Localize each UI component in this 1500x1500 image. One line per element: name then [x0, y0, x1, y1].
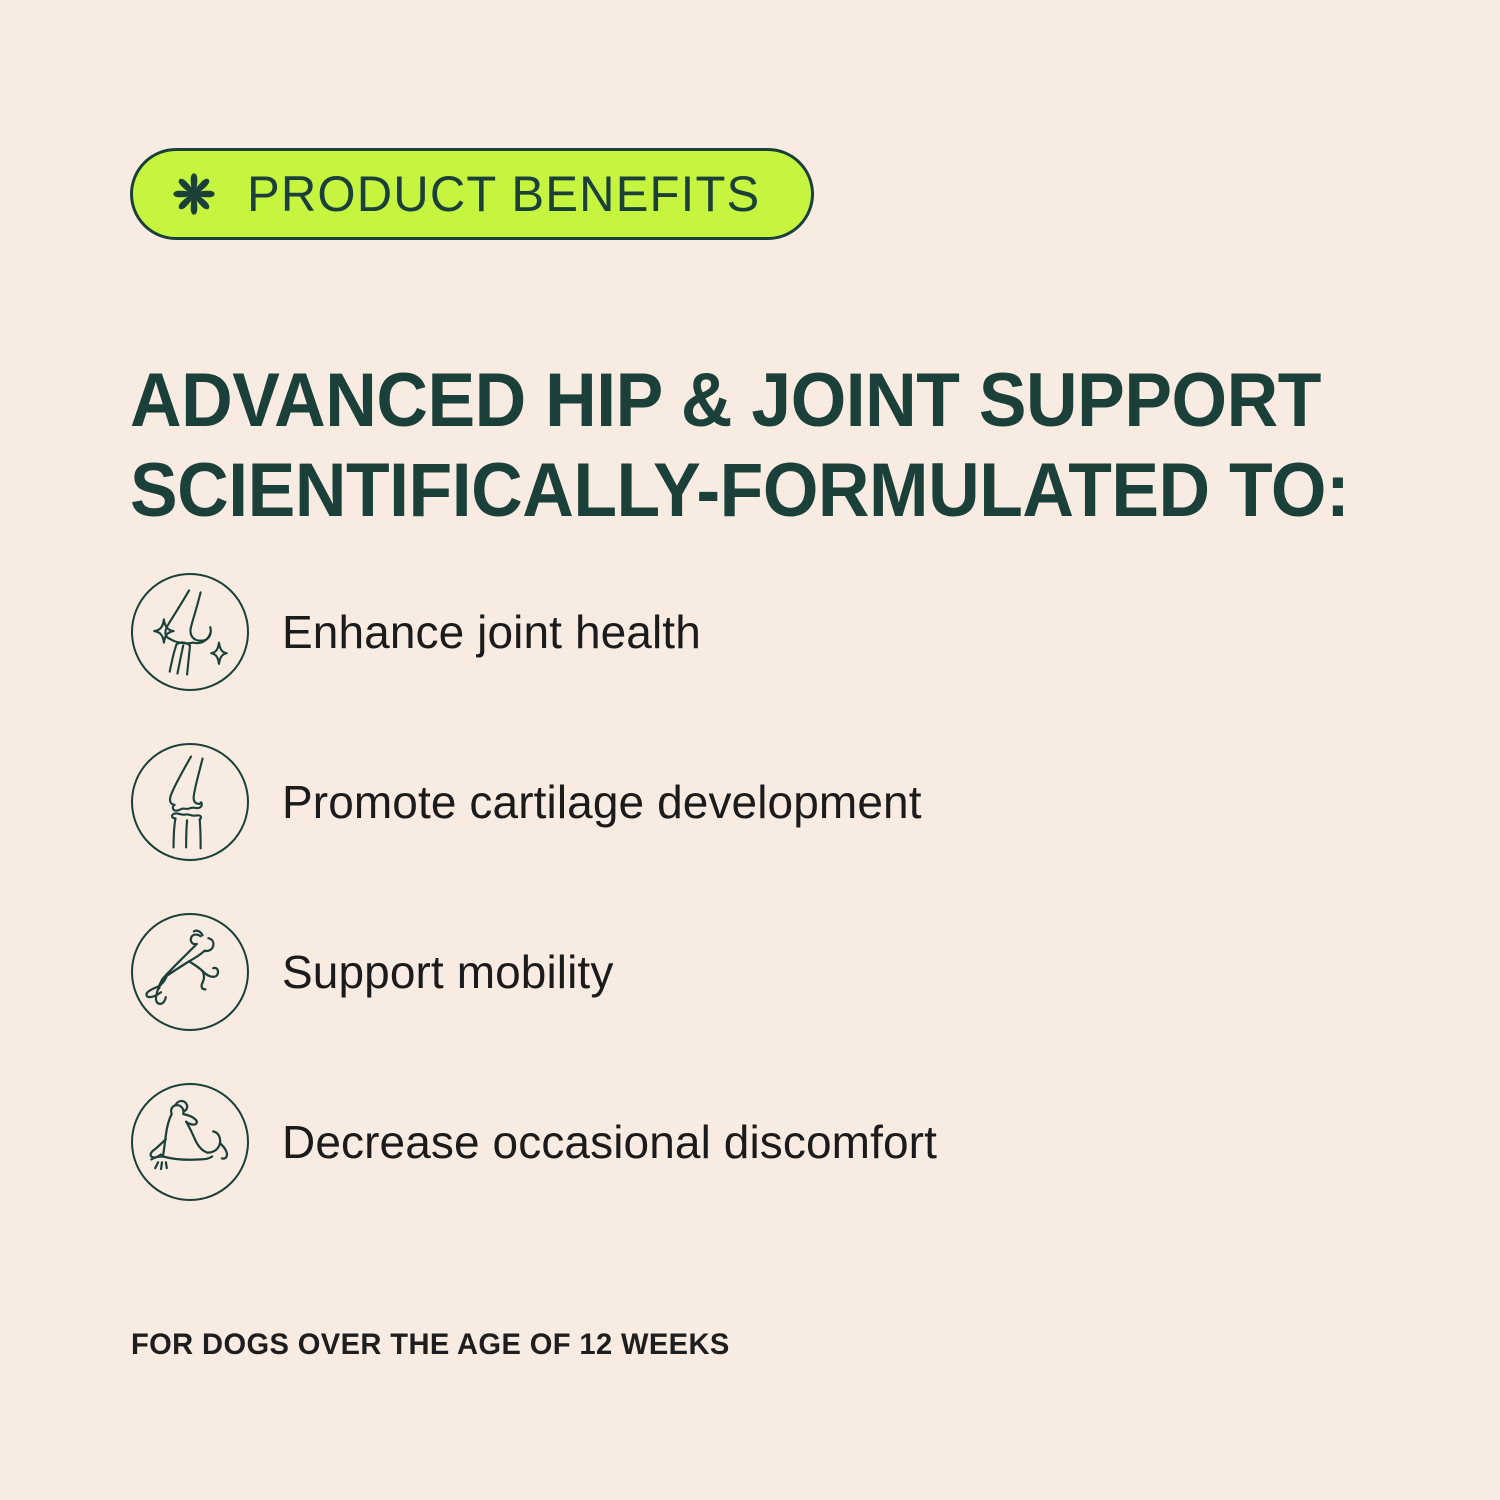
page-title-line-1: ADVANCED HIP & JOINT SUPPORT: [130, 356, 1314, 446]
page-title: ADVANCED HIP & JOINT SUPPORT SCIENTIFICA…: [130, 356, 1390, 535]
cartilage-joint-icon: [131, 743, 249, 861]
list-item: Decrease occasional discomfort: [131, 1083, 1381, 1201]
page-title-line-2: SCIENTIFICALLY-FORMULATED TO:: [130, 446, 1314, 536]
list-item-label: Decrease occasional discomfort: [282, 1119, 937, 1165]
list-item-label: Promote cartilage development: [282, 779, 922, 825]
age-requirement-note: FOR DOGS OVER THE AGE OF 12 WEEKS: [131, 1328, 730, 1362]
list-item-label: Enhance joint health: [282, 609, 701, 655]
list-item: Promote cartilage development: [131, 743, 1381, 861]
list-item: Support mobility: [131, 913, 1381, 1031]
asterisk-icon: [167, 167, 221, 221]
leaping-dog-icon: [131, 913, 249, 1031]
list-item: Enhance joint health: [131, 573, 1381, 691]
joint-sparkle-icon: [131, 573, 249, 691]
badge-label: PRODUCT BENEFITS: [247, 169, 760, 219]
product-benefits-badge: PRODUCT BENEFITS: [130, 148, 814, 240]
resting-dog-icon: [131, 1083, 249, 1201]
benefits-list: Enhance joint health: [131, 573, 1381, 1201]
list-item-label: Support mobility: [282, 949, 613, 995]
